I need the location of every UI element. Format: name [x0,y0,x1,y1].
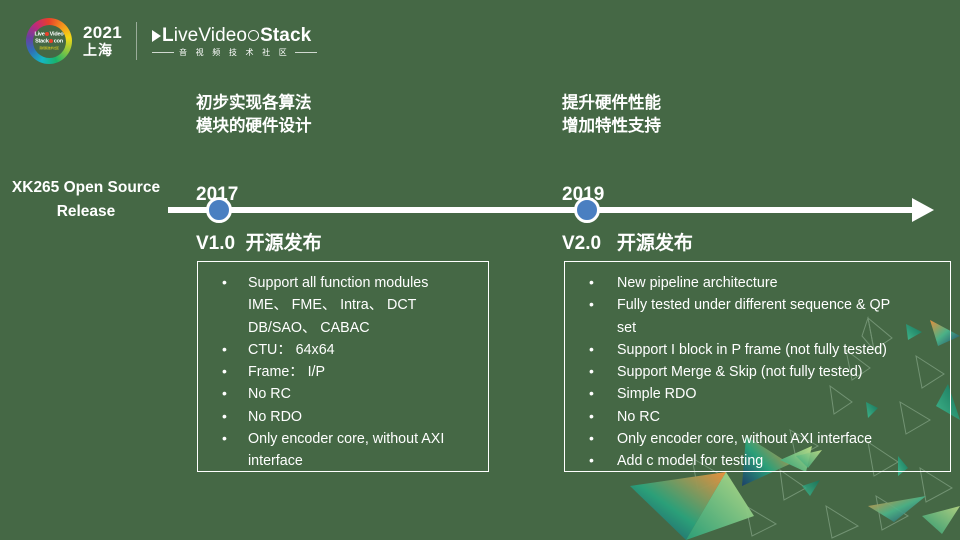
slide-canvas: LiveVideo Stackcon 音视频技术社区 2021 上海 LiveV… [0,0,960,540]
list-item: Only encoder core, without AXI interface [575,428,942,450]
wordmark-part4: Stack [260,25,311,46]
brand-divider [136,22,137,60]
logo-dot2-icon [49,39,53,43]
event-city: 上海 [83,43,122,58]
list-item: Support all function modules IME、 FME、 I… [208,272,480,339]
wordmark-rule-right [295,52,317,53]
list-item: Only encoder core, without AXI interface [208,428,480,473]
wordmark-rule-left [152,52,174,53]
list-item: Fully tested under different sequence & … [575,294,942,339]
feature-list-v2: New pipeline architecture Fully tested u… [575,272,942,473]
version-title-v2: V2.0 开源发布 [562,228,693,255]
feature-box-v1: Support all function modules IME、 FME、 I… [197,261,489,472]
event-year-city: 2021 上海 [83,24,122,57]
list-item: Add c model for testing [575,450,942,472]
list-item: CTU： 64x64 [208,339,480,361]
feature-box-v2: New pipeline architecture Fully tested u… [564,261,951,472]
logo-dot-icon [45,32,49,36]
list-item: Support Merge & Skip (not fully tested) [575,361,942,383]
milestone-heading-2019: 提升硬件性能 增加特性支持 [562,92,952,138]
logo-line3: Stack [35,39,49,45]
wordmark-part1: L [162,25,174,46]
list-item: No RC [575,406,942,428]
milestone-column-2017: 初步实现各算法 模块的硬件设计 2017 [196,92,526,206]
list-item: No RDO [208,406,480,428]
list-item: Frame： I/P [208,361,480,383]
list-item: No RC [208,383,480,405]
wordmark-part3: Video [198,25,247,46]
livevideostack-wordmark: LiveVideoStack 音 视 频 技 术 社 区 [152,26,317,57]
version-title-v1: V1.0 开源发布 [196,228,322,255]
feature-list-v1: Support all function modules IME、 FME、 I… [208,272,480,473]
logo-line2: Video [50,32,64,38]
milestone-year-2019: 2019 [562,184,952,206]
livevideostack-ring-logo-icon: LiveVideo Stackcon 音视频技术社区 [26,18,72,64]
milestone-year-2017: 2017 [196,184,526,206]
wordmark-part2: ive [174,25,199,46]
timeline-axis [168,207,926,213]
logo-line4: con [54,39,63,45]
list-item: Support I block in P frame (not fully te… [575,339,942,361]
milestone-heading-2017: 初步实现各算法 模块的硬件设计 [196,92,526,138]
circle-o-icon [248,30,259,41]
brand-header: LiveVideo Stackcon 音视频技术社区 2021 上海 LiveV… [26,17,317,65]
side-label: XK265 Open Source Release [10,176,162,223]
logo-line1: Live [34,32,44,38]
logo-tagline: 音视频技术社区 [39,47,59,50]
milestone-column-2019: 提升硬件性能 增加特性支持 2019 [562,92,952,206]
list-item: Simple RDO [575,383,942,405]
play-triangle-icon [152,30,161,42]
wordmark-subtitle: 音 视 频 技 术 社 区 [179,49,290,57]
event-year: 2021 [83,24,122,42]
list-item: New pipeline architecture [575,272,942,294]
